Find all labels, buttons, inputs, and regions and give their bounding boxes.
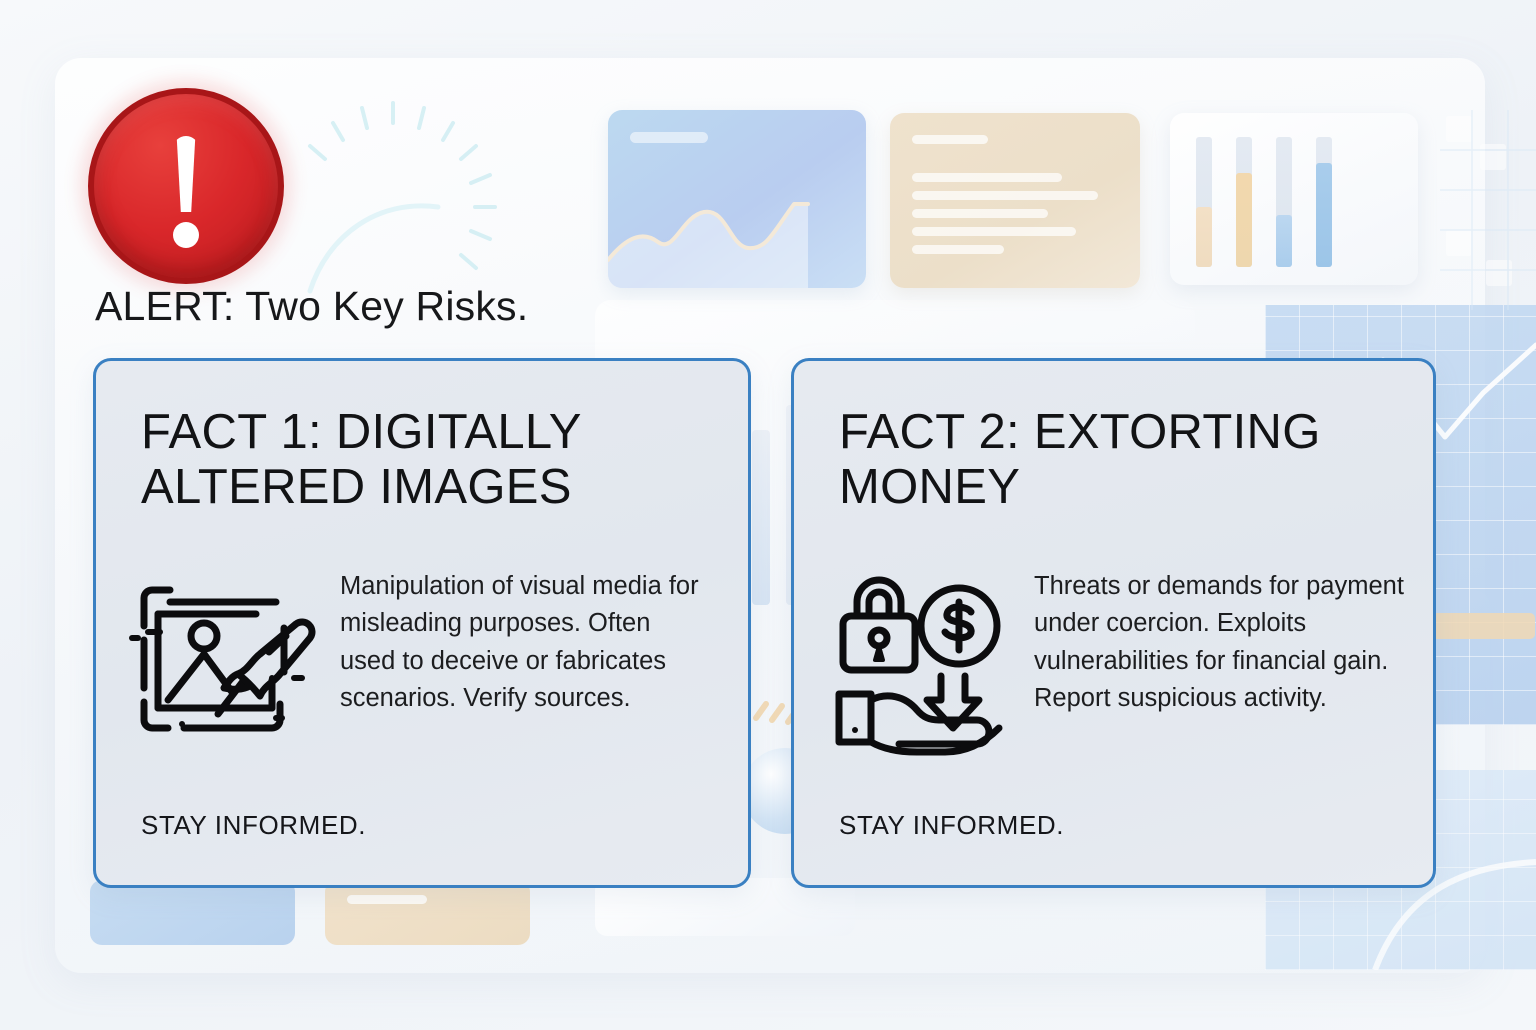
doc-line [912, 135, 988, 144]
bottom-beige-card [325, 880, 530, 945]
image-paintbrush-icon [126, 564, 326, 753]
doc-line [912, 191, 1098, 200]
padlock-money-hand-icon [824, 564, 1020, 753]
doc-line [912, 227, 1076, 236]
fact-2-body: Threats or demands for payment under coe… [824, 564, 1405, 753]
doc-line [912, 245, 1004, 254]
fact-2-description: Threats or demands for payment under coe… [1034, 564, 1405, 718]
fact-card-2[interactable]: FACT 2: EXTORTING MONEY [791, 358, 1436, 888]
bar-track [1276, 137, 1292, 267]
bar-fill [1236, 173, 1252, 267]
fact-1-heading: FACT 1: DIGITALLY ALTERED IMAGES [141, 405, 720, 516]
bar-chart-card [1170, 113, 1418, 285]
background-bar [752, 430, 770, 605]
bottom-blue-card [90, 880, 295, 945]
area-chart-icon [608, 168, 866, 288]
document-lines-card [890, 113, 1140, 288]
exclamation-alert-icon [88, 88, 284, 284]
doc-line [912, 173, 1062, 182]
doc-line [912, 209, 1048, 218]
page-title: ALERT: Two Key Risks. [95, 283, 528, 330]
alert-circle [88, 88, 284, 284]
area-chart-card [608, 110, 866, 288]
pixel-grid-icon [1440, 110, 1536, 310]
fact-2-heading: FACT 2: EXTORTING MONEY [839, 405, 1405, 516]
bar-track [1236, 137, 1252, 267]
bar-track [1316, 137, 1332, 267]
bar-fill [1316, 163, 1332, 267]
fact-2-footer: STAY INFORMED. [839, 810, 1064, 841]
doc-line [347, 895, 427, 904]
exclamation-stem [173, 136, 199, 212]
fact-1-description: Manipulation of visual media for mislead… [340, 564, 700, 718]
fact-1-body: Manipulation of visual media for mislead… [126, 564, 720, 753]
bar-fill [1196, 207, 1212, 267]
infographic-canvas: ALERT: Two Key Risks. FACT 1: DIGITALLY … [0, 0, 1536, 1030]
fact-card-1[interactable]: FACT 1: DIGITALLY ALTERED IMAGES [93, 358, 751, 888]
fact-1-footer: STAY INFORMED. [141, 810, 366, 841]
exclamation-dot [173, 222, 199, 248]
bar-fill [1276, 215, 1292, 267]
bar-track [1196, 137, 1212, 267]
card-chip [630, 132, 708, 143]
